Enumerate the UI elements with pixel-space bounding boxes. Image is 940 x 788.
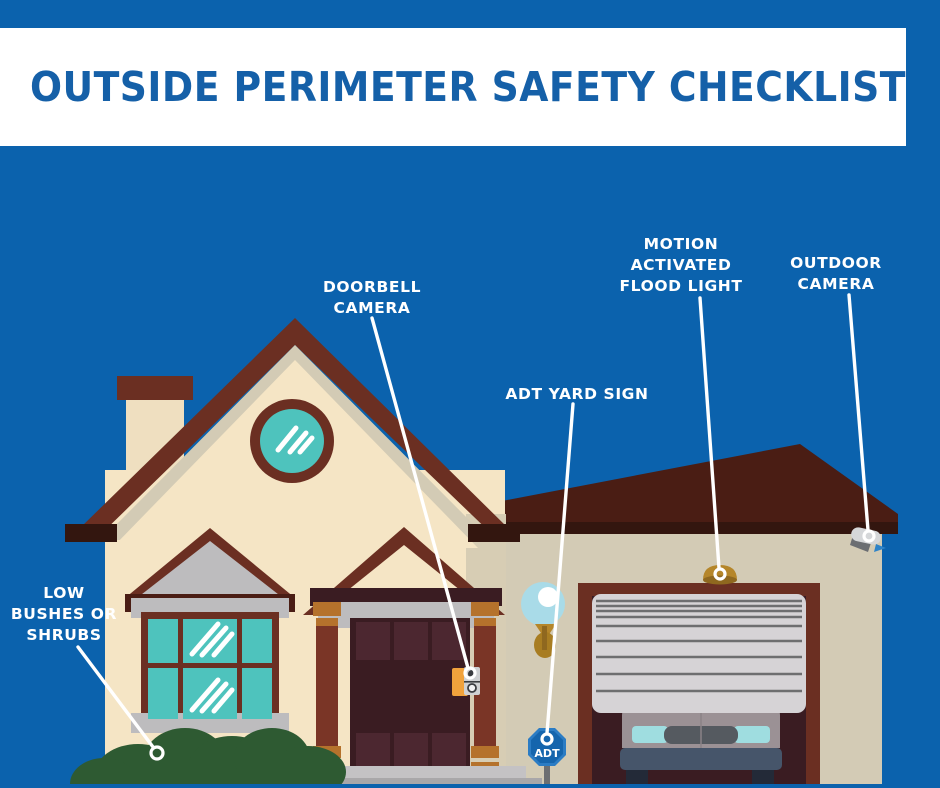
chimney-cap — [117, 376, 193, 400]
callout-label-adt-yard-sign: ADT YARD SIGN — [497, 384, 657, 405]
callout-label-low-bushes-or-shrubs: LOW BUSHES OR SHRUBS — [2, 583, 126, 646]
attic-window-glass — [260, 409, 324, 473]
car-headlight-left — [632, 726, 668, 743]
sconce-stem — [542, 626, 547, 650]
attic-round-window — [250, 399, 334, 483]
callout-label-motion-activated-flood-light: MOTION ACTIVATED FLOOD LIGHT — [601, 234, 761, 297]
garage-door — [592, 594, 806, 713]
gable-eave-left — [65, 524, 117, 542]
front-door — [350, 618, 470, 780]
infographic-page: ADT OUTSIDE PERIMETER SAFETY CHECKLIST D… — [0, 0, 940, 788]
doorbell-camera-divider — [464, 681, 480, 683]
sconce-bulb — [538, 587, 558, 607]
page-title: OUTSIDE PERIMETER SAFETY CHECKLIST — [30, 63, 906, 111]
callout-label-outdoor-camera: OUTDOOR CAMERA — [756, 253, 916, 295]
title-banner: OUTSIDE PERIMETER SAFETY CHECKLIST — [0, 28, 906, 146]
bottom-strip — [0, 784, 940, 788]
adt-sign-label: ADT — [534, 747, 560, 760]
doorbell-camera-button — [468, 684, 476, 692]
door-panels-top — [356, 622, 466, 660]
car-headlight-right — [734, 726, 770, 743]
callout-label-doorbell-camera: DOORBELL CAMERA — [292, 277, 452, 319]
gable-eave-right — [468, 524, 520, 542]
step-upper — [326, 766, 526, 778]
car-bumper — [620, 748, 782, 770]
